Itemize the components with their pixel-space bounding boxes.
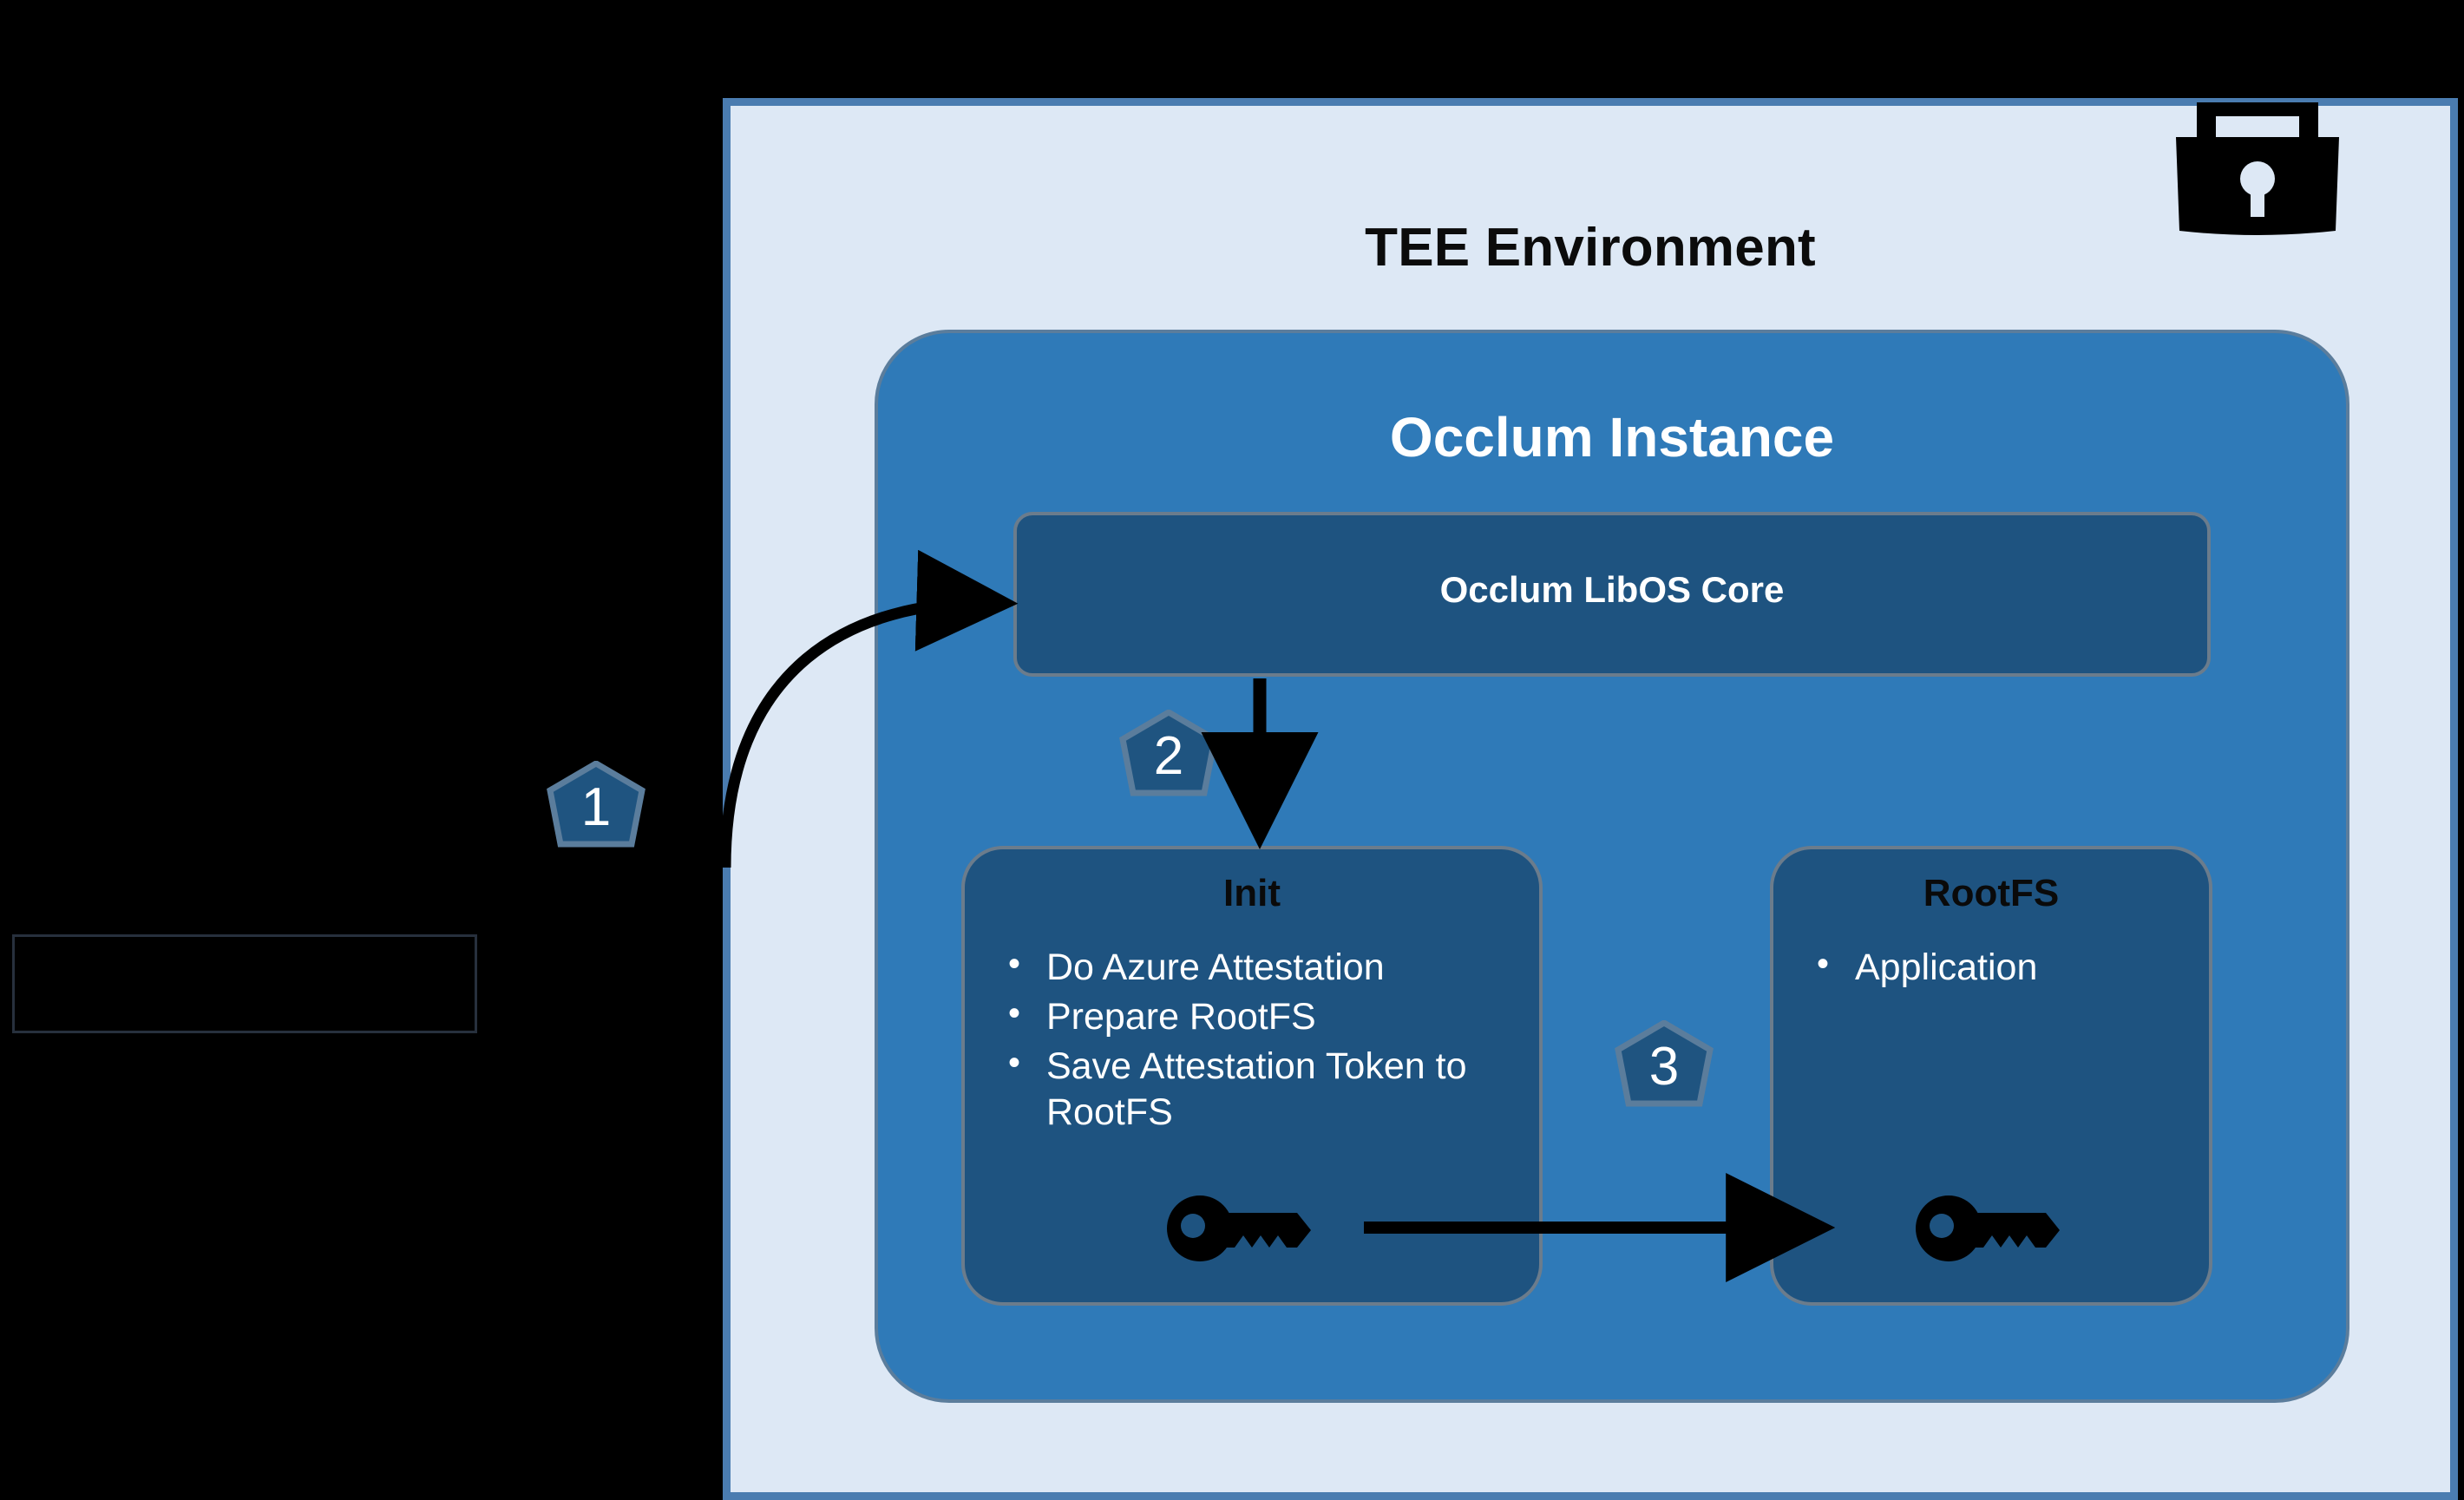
- step-badge-label: 3: [1649, 1040, 1679, 1097]
- occlum-libos-core-label: Occlum LibOS Core: [1017, 569, 2207, 611]
- occlum-instance-title: Occlum Instance: [878, 405, 2346, 469]
- step-badge-1: 1: [544, 761, 648, 858]
- padlock-icon: [2167, 95, 2348, 245]
- diagram-canvas: TEE Environment Occlum Instance Occlum L…: [0, 0, 2464, 1500]
- init-title: Init: [965, 872, 1539, 915]
- list-item: Do Azure Attestation: [996, 945, 1522, 991]
- rootfs-panel: RootFS Application: [1770, 846, 2212, 1306]
- rootfs-title: RootFS: [1773, 872, 2209, 915]
- occlum-libos-core-panel: Occlum LibOS Core: [1013, 512, 2211, 677]
- left-placeholder-box: [12, 934, 477, 1033]
- rootfs-bullet-list: Application: [1805, 945, 2192, 994]
- step-badge-label: 2: [1154, 730, 1183, 787]
- list-item: Save Attestation Token to RootFS: [996, 1044, 1522, 1136]
- step-badge-3: 3: [1612, 1020, 1716, 1117]
- list-item: Application: [1805, 945, 2192, 991]
- init-bullet-list: Do Azure Attestation Prepare RootFS Save…: [996, 945, 1522, 1139]
- step-badge-2: 2: [1117, 710, 1221, 807]
- step-badge-label: 1: [581, 781, 611, 838]
- init-panel: Init Do Azure Attestation Prepare RootFS…: [961, 846, 1543, 1306]
- list-item: Prepare RootFS: [996, 994, 1522, 1040]
